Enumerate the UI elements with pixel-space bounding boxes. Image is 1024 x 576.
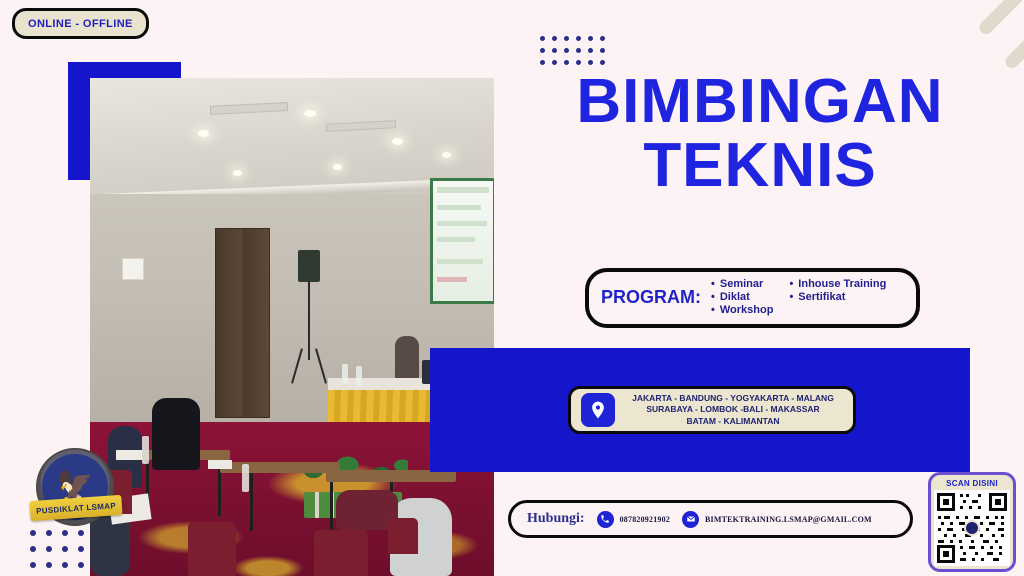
stripe-2 xyxy=(1003,6,1024,70)
flyer-canvas: ONLINE - OFFLINE xyxy=(0,0,1024,576)
email-contact[interactable]: BIMTEKTRAINING.LSMAP@GMAIL.COM xyxy=(682,511,872,528)
title-line-2: TEKNIS xyxy=(510,136,1010,196)
program-column-right: Inhouse Training Sertifikat xyxy=(789,278,886,316)
logo-name: PUSDIKLAT LSMAP xyxy=(36,501,116,516)
title-line-1: BIMBINGAN xyxy=(510,72,1010,132)
qr-center-logo xyxy=(964,520,980,536)
phone-contact[interactable]: 087820921902 xyxy=(597,511,670,528)
program-item: Sertifikat xyxy=(789,291,886,303)
contact-label: Hubungi: xyxy=(527,511,585,527)
email-address: BIMTEKTRAINING.LSMAP@GMAIL.COM xyxy=(705,515,872,524)
program-item: Seminar xyxy=(711,278,773,290)
page-title: BIMBINGAN TEKNIS xyxy=(510,72,1010,195)
envelope-icon xyxy=(682,511,699,528)
pusdiklat-logo: 🦅 PUSDIKLAT LSMAP xyxy=(30,446,122,538)
online-offline-badge: ONLINE - OFFLINE xyxy=(12,8,149,39)
location-line: JAKARTA - BANDUNG - YOGYAKARTA - MALANG xyxy=(623,393,843,404)
program-column-left: Seminar Diklat Workshop xyxy=(711,278,773,316)
badge-pill: ONLINE - OFFLINE xyxy=(12,8,149,39)
qr-code-panel[interactable]: SCAN DISINI xyxy=(928,472,1016,572)
program-item: Diklat xyxy=(711,291,773,303)
qr-title: SCAN DISINI xyxy=(946,479,998,488)
location-line: BATAM - KALIMANTAN xyxy=(623,416,843,427)
location-box: JAKARTA - BANDUNG - YOGYAKARTA - MALANG … xyxy=(568,386,856,434)
program-label: PROGRAM: xyxy=(601,287,701,308)
seminar-photo xyxy=(90,78,494,576)
location-line: SURABAYA - LOMBOK -BALI - MAKASSAR xyxy=(623,404,843,415)
dot-grid-top xyxy=(540,36,605,65)
phone-icon xyxy=(597,511,614,528)
program-item: Inhouse Training xyxy=(789,278,886,290)
phone-number: 087820921902 xyxy=(620,515,670,524)
program-item: Workshop xyxy=(711,304,773,316)
stripe-1 xyxy=(977,0,1024,37)
badge-label: ONLINE - OFFLINE xyxy=(28,18,133,30)
map-pin-icon xyxy=(581,393,615,427)
qr-code-image xyxy=(934,490,1010,566)
program-box: PROGRAM: Seminar Diklat Workshop Inhouse… xyxy=(585,268,920,328)
contact-bar: Hubungi: 087820921902 BIMTEKTRAINING.LSM… xyxy=(508,500,913,538)
